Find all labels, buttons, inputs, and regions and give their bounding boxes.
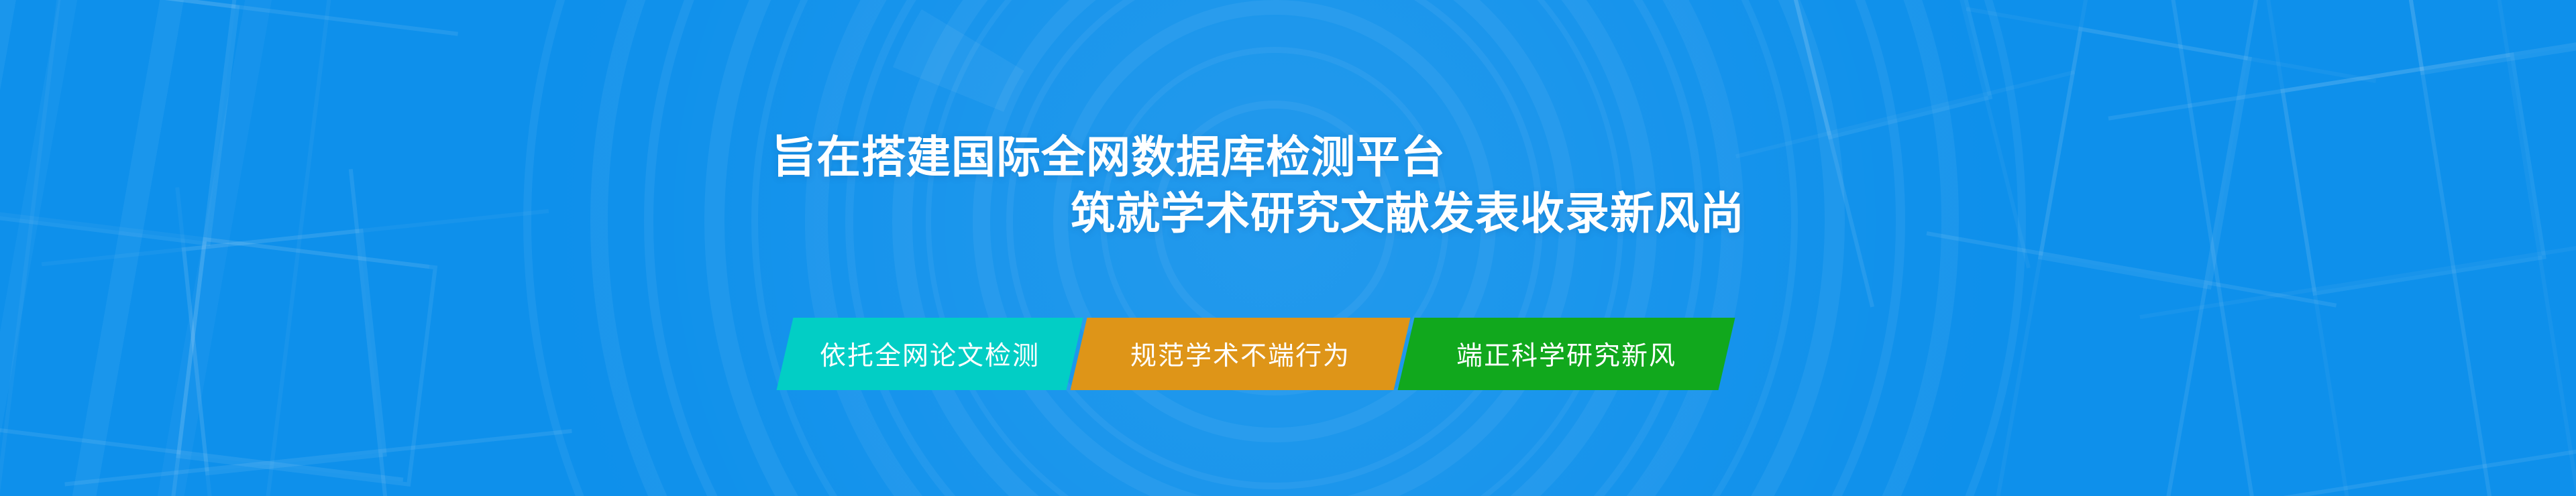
badge-research-integrity[interactable]: 端正科学研究新风 [1398, 318, 1735, 390]
badge-academic-misconduct[interactable]: 规范学术不端行为 [1071, 318, 1411, 390]
badge-label: 依托全网论文检测 [797, 335, 1063, 373]
headline-line-1: 旨在搭建国际全网数据库检测平台 [771, 131, 1446, 182]
feature-badge-strip: 依托全网论文检测 规范学术不端行为 端正科学研究新风 [785, 318, 1727, 390]
hero-banner: 旨在搭建国际全网数据库检测平台 筑就学术研究文献发表收录新风尚 依托全网论文检测… [0, 0, 2576, 496]
background-grid-right [2077, 0, 2576, 496]
background-light-bands [0, 0, 2576, 496]
badge-label: 端正科学研究新风 [1434, 335, 1699, 373]
background-grid-left [0, 0, 472, 496]
badge-label: 规范学术不端行为 [1108, 335, 1373, 373]
badge-plagiarism-detection[interactable]: 依托全网论文检测 [777, 318, 1083, 390]
background-decoration [0, 0, 2576, 496]
background-grid-right-3 [1666, 0, 2118, 330]
background-radial-spoke [805, 0, 1744, 496]
background-grid-right-2 [1883, 0, 2398, 496]
headline-line-2: 筑就学术研究文献发表收录新风尚 [1071, 188, 1745, 239]
background-grid-left-2 [35, 149, 595, 496]
background-radial-glow [537, 0, 2012, 496]
